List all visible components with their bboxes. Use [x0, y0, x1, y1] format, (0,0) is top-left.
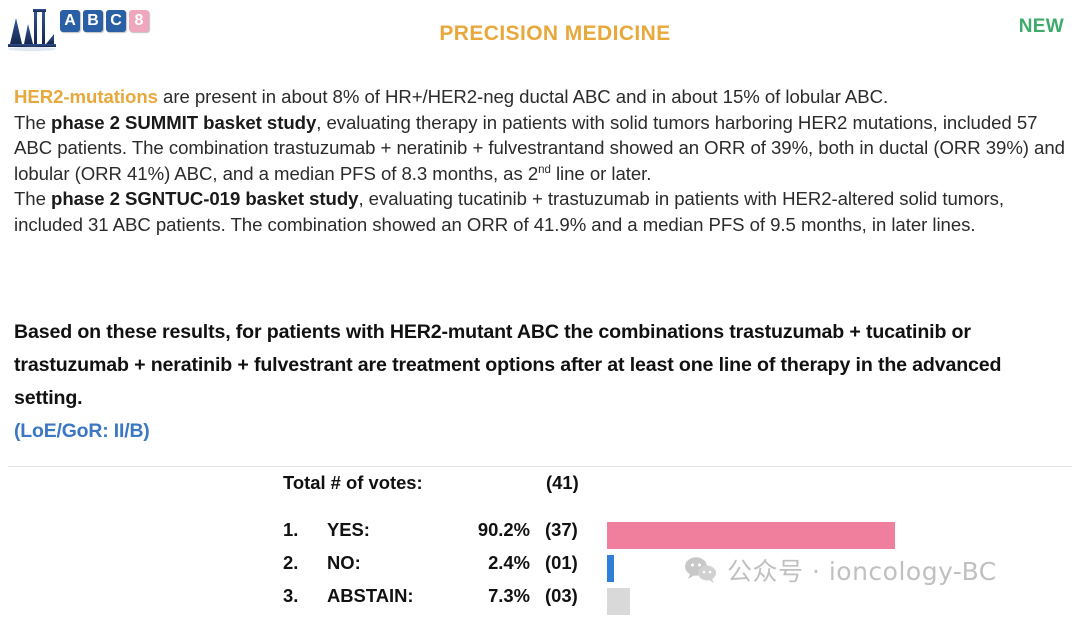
- vote-abstain-count: (03): [545, 585, 578, 607]
- vote-abstain-number: 3.: [283, 585, 298, 607]
- vote-yes-label: YES:: [327, 519, 370, 541]
- section-divider: [8, 466, 1072, 467]
- intro-rest: are present in about 8% of HR+/HER2-neg …: [158, 86, 888, 107]
- vote-no-bar: [607, 555, 614, 582]
- summit-tail: line or later.: [551, 163, 652, 184]
- page-header: A B C 8 PRECISION MEDICINE NEW: [0, 0, 1080, 62]
- votes-total-row: Total # of votes: (41): [0, 472, 1080, 505]
- vote-abstain-bar: [607, 588, 630, 615]
- vote-row-abstain: 3. ABSTAIN: 7.3% (03): [0, 585, 1080, 618]
- body-content: HER2-mutations are present in about 8% o…: [14, 84, 1072, 237]
- votes-total-label: Total # of votes:: [283, 472, 423, 494]
- vote-no-label: NO:: [327, 552, 361, 574]
- vote-abstain-label: ABSTAIN:: [327, 585, 414, 607]
- vote-yes-percent: 90.2%: [430, 519, 530, 541]
- summit-pre: The: [14, 112, 51, 133]
- summit-study-name: phase 2 SUMMIT basket study: [51, 112, 316, 133]
- paragraph-summit: The phase 2 SUMMIT basket study, evaluat…: [14, 110, 1072, 187]
- votes-total-count: (41): [546, 472, 579, 494]
- vote-no-count: (01): [545, 552, 578, 574]
- summit-sup: nd: [538, 163, 551, 175]
- voting-results: Total # of votes: (41) 1. YES: 90.2% (37…: [0, 472, 1080, 617]
- statement-text: Based on these results, for patients wit…: [14, 321, 1001, 409]
- new-badge: NEW: [1019, 16, 1064, 38]
- vote-yes-count: (37): [545, 519, 578, 541]
- wechat-watermark: 公众号 · ioncology-BC: [684, 552, 997, 588]
- vote-no-number: 2.: [283, 552, 298, 574]
- vote-row-yes: 1. YES: 90.2% (37): [0, 519, 1080, 552]
- sgntuc-study-name: phase 2 SGNTUC-019 basket study: [51, 188, 358, 209]
- recommendation-statement: Based on these results, for patients wit…: [14, 316, 1070, 448]
- paragraph-intro: HER2-mutations are present in about 8% o…: [14, 84, 1072, 110]
- watermark-text: 公众号 · ioncology-BC: [727, 552, 997, 588]
- sgntuc-pre: The: [14, 188, 51, 209]
- vote-no-percent: 2.4%: [430, 552, 530, 574]
- wechat-icon: [684, 556, 718, 584]
- paragraph-sgntuc: The phase 2 SGNTUC-019 basket study, eva…: [14, 186, 1072, 237]
- page-title: PRECISION MEDICINE: [0, 22, 1080, 46]
- vote-abstain-percent: 7.3%: [430, 585, 530, 607]
- vote-yes-bar: [607, 522, 895, 549]
- loe-gor-label: (LoE/GoR: II/B): [14, 420, 150, 442]
- her2-mutations-highlight: HER2-mutations: [14, 86, 158, 107]
- vote-yes-number: 1.: [283, 519, 298, 541]
